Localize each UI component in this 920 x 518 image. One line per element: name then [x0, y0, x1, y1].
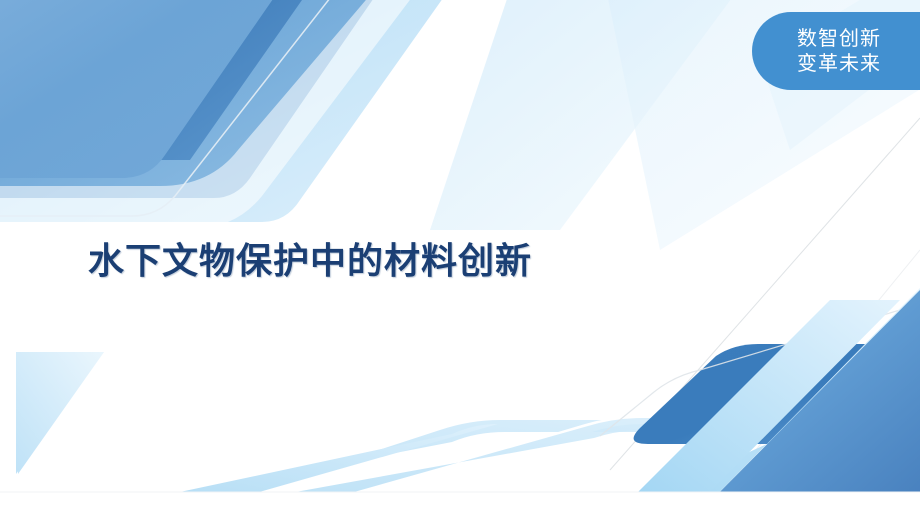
badge-line-2: 变革未来 — [797, 51, 881, 76]
top-left-blue-panel-group — [0, 0, 470, 228]
bottom-right-blue-triangle-group — [618, 288, 920, 512]
page-title: 水下文物保护中的材料创新 — [88, 232, 532, 284]
bottom-left-light-stripe — [150, 416, 920, 518]
bottom-right-hairline — [600, 304, 920, 436]
bottom-left-light-chevron-group — [0, 290, 920, 518]
title-slide: 数智创新 变革未来 水下文物保护中的材料创新 — [0, 0, 920, 518]
bottom-right-dark-parallelogram — [598, 342, 920, 444]
badge-line-1: 数智创新 — [797, 26, 881, 51]
corner-badge: 数智创新 变革未来 — [752, 12, 920, 90]
bottom-white-strip — [0, 492, 920, 518]
